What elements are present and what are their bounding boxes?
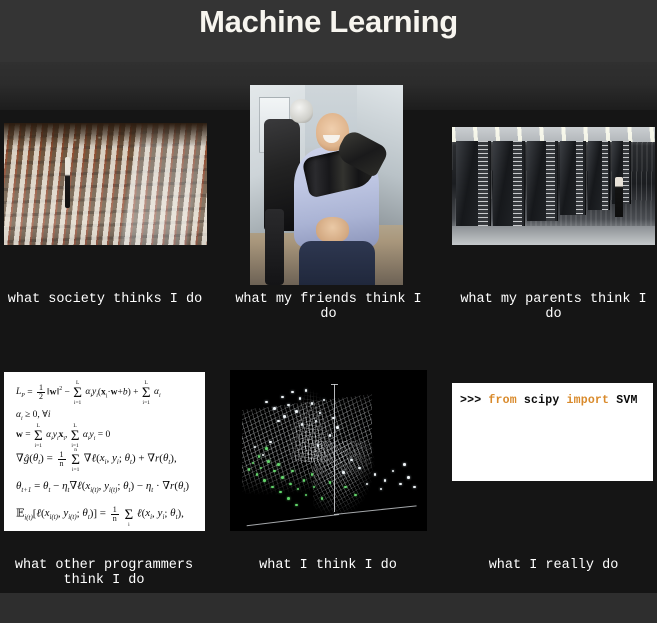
panel-i-really-do: >>> from scipy import SVM bbox=[452, 383, 653, 481]
symbol-name: SVM bbox=[609, 394, 637, 407]
rack-vent-grille bbox=[623, 141, 628, 204]
data-point bbox=[295, 504, 298, 507]
robot-leg bbox=[265, 209, 283, 285]
data-point bbox=[283, 415, 286, 418]
caption-friends: what my friends think I do bbox=[226, 292, 431, 322]
data-point bbox=[287, 497, 290, 500]
server-rack bbox=[527, 141, 557, 221]
equation-svm-primal: LP = 12‖w‖2 − LΣi=1 αiyi(xi·w+b) + LΣi=1… bbox=[16, 384, 195, 402]
panel-other-programmers: LP = 12‖w‖2 − LΣi=1 αiyi(xi·w+b) + LΣi=1… bbox=[4, 372, 205, 531]
server-room-ceiling bbox=[452, 127, 655, 142]
keyword-from: from bbox=[488, 394, 516, 407]
data-point bbox=[321, 497, 324, 500]
data-point bbox=[267, 460, 270, 463]
data-point bbox=[256, 473, 259, 476]
caption-i-really-do: what I really do bbox=[450, 558, 657, 573]
data-point bbox=[260, 467, 263, 470]
data-point bbox=[336, 426, 339, 429]
panel-i-think bbox=[230, 370, 427, 531]
data-point bbox=[265, 401, 268, 404]
data-point bbox=[273, 407, 276, 410]
data-point bbox=[332, 417, 335, 420]
server-rack bbox=[588, 141, 610, 209]
data-point bbox=[374, 473, 377, 476]
python-terminal-panel: >>> from scipy import SVM bbox=[452, 383, 653, 481]
equation-alpha-constraint: αi ≥ 0, ∀i bbox=[16, 411, 195, 422]
server-rack bbox=[456, 141, 491, 228]
caption-i-think: what I think I do bbox=[228, 558, 428, 573]
panel-society bbox=[4, 123, 207, 245]
meme-poster: Machine Learning what society thinks I d… bbox=[0, 0, 657, 623]
terminal-code-line: >>> from scipy import SVM bbox=[460, 394, 645, 408]
presenter-figure bbox=[65, 157, 70, 208]
robot-head bbox=[290, 99, 313, 123]
svm-plot-frame bbox=[230, 370, 427, 531]
server-rack bbox=[493, 141, 525, 226]
man-with-robot-arm-photo bbox=[250, 85, 403, 285]
supercomputer-server-racks-photo bbox=[452, 127, 655, 245]
panel-parents bbox=[452, 127, 655, 245]
equations-panel-frame: LP = 12‖w‖2 − LΣi=1 αiyi(xi·w+b) + LΣi=1… bbox=[4, 372, 205, 531]
data-point bbox=[263, 479, 266, 482]
rack-vent-grille bbox=[478, 141, 488, 228]
server-rack bbox=[560, 141, 586, 215]
footer-band bbox=[0, 593, 657, 623]
rack-vent-grille bbox=[576, 141, 584, 215]
technician-figure bbox=[615, 177, 622, 217]
data-point bbox=[291, 470, 294, 473]
data-point bbox=[258, 455, 261, 458]
caption-other-programmers: what other programmers think I do bbox=[0, 558, 208, 588]
data-point bbox=[392, 470, 395, 473]
latex-equations-panel: LP = 12‖w‖2 − LΣi=1 αiyi(xi·w+b) + LΣi=1… bbox=[4, 372, 205, 531]
server-room-floor bbox=[452, 226, 655, 245]
rack-vent-grille bbox=[602, 141, 608, 209]
equation-expected-loss: 𝔼i(t)[ℓ(xi(t), yi(t); θt)] = 1n Σi ℓ(xi,… bbox=[16, 506, 195, 524]
auditorium-photo-frame bbox=[4, 123, 207, 245]
data-point bbox=[342, 471, 345, 474]
equation-sgd-update: θt+1 = θt − ηt∇ℓ(xi(t), yi(t); θt) − ηt … bbox=[16, 481, 195, 494]
data-point bbox=[350, 459, 353, 462]
data-point bbox=[265, 447, 268, 450]
rack-vent-grille bbox=[546, 141, 555, 221]
equation-gradient-estimate: ∇ĝ(θt) = 1n nΣi=1 ∇ℓ(xi, yi; θt) + ∇r(θt… bbox=[16, 451, 195, 469]
equation-w-kkt: w = LΣi=1 αiyixi, LΣi=1 αiyi = 0 bbox=[16, 431, 195, 442]
panel-friends bbox=[250, 85, 403, 285]
data-point bbox=[407, 476, 410, 479]
caption-society: what society thinks I do bbox=[0, 292, 210, 307]
data-point bbox=[329, 481, 332, 484]
man-clasped-hands bbox=[316, 217, 350, 243]
rack-vent-grille bbox=[513, 141, 522, 226]
data-point bbox=[329, 434, 332, 437]
3d-svm-hyperplane-scatter-plot bbox=[230, 370, 427, 531]
data-point bbox=[295, 410, 298, 413]
auditorium-full-of-robots-photo bbox=[4, 123, 207, 245]
hall-ceiling-shadow bbox=[4, 123, 207, 147]
data-point bbox=[413, 486, 416, 489]
axis-vertical bbox=[334, 384, 335, 511]
data-point bbox=[287, 404, 290, 407]
man-jeans bbox=[299, 241, 376, 285]
data-point bbox=[358, 467, 361, 470]
data-point bbox=[281, 396, 284, 399]
data-point bbox=[248, 468, 251, 471]
caption-parents: what my parents think I do bbox=[450, 292, 657, 322]
module-name: scipy bbox=[517, 394, 567, 407]
data-point bbox=[311, 402, 314, 405]
page-title: Machine Learning bbox=[0, 2, 657, 42]
data-point bbox=[279, 491, 282, 494]
data-point bbox=[399, 483, 402, 486]
data-point bbox=[384, 479, 387, 482]
data-point bbox=[317, 444, 320, 447]
data-point bbox=[289, 483, 292, 486]
data-point bbox=[403, 463, 406, 466]
data-point bbox=[311, 473, 314, 476]
data-point bbox=[277, 463, 280, 466]
data-point bbox=[281, 476, 284, 479]
keyword-import: import bbox=[567, 394, 610, 407]
robot-man-photo-frame bbox=[250, 85, 403, 285]
server-room-photo-frame bbox=[452, 127, 655, 245]
prompt-text: >>> bbox=[460, 394, 488, 407]
terminal-panel-frame: >>> from scipy import SVM bbox=[452, 383, 653, 481]
data-point bbox=[380, 488, 383, 491]
